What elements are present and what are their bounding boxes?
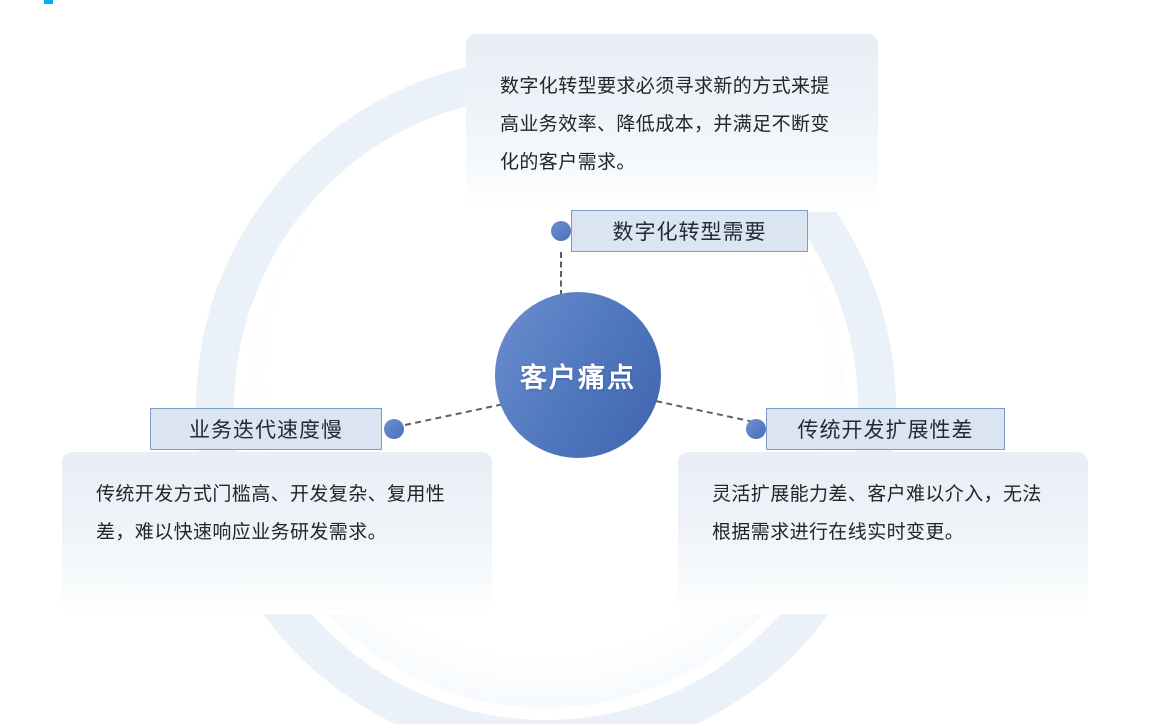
node-chip-right[interactable]: 传统开发扩展性差 [766, 408, 1005, 450]
connector-top [560, 252, 562, 296]
node-chip-top-label: 数字化转型需要 [613, 216, 767, 246]
central-hub-label: 客户痛点 [520, 356, 636, 395]
diagram-canvas: 数字化转型要求必须寻求新的方式来提高业务效率、降低成本，并满足不断变化的客户需求… [0, 0, 1150, 724]
connector-right [646, 398, 764, 425]
node-chip-top[interactable]: 数字化转型需要 [571, 210, 808, 252]
description-text-top: 数字化转型要求必须寻求新的方式来提高业务效率、降低成本，并满足不断变化的客户需求… [500, 68, 844, 182]
node-dot-left-icon[interactable] [384, 419, 404, 439]
node-dot-right-icon[interactable] [746, 419, 766, 439]
node-dot-top-icon[interactable] [551, 221, 571, 241]
node-chip-right-label: 传统开发扩展性差 [798, 414, 974, 444]
description-text-right: 灵活扩展能力差、客户难以介入，无法根据需求进行在线实时变更。 [712, 476, 1054, 552]
description-panel-right: 灵活扩展能力差、客户难以介入，无法根据需求进行在线实时变更。 [678, 452, 1088, 614]
description-text-left: 传统开发方式门槛高、开发复杂、复用性差，难以快速响应业务研发需求。 [96, 476, 458, 552]
node-chip-left[interactable]: 业务迭代速度慢 [150, 408, 382, 450]
description-panel-left: 传统开发方式门槛高、开发复杂、复用性差，难以快速响应业务研发需求。 [62, 452, 492, 614]
node-chip-left-label: 业务迭代速度慢 [189, 414, 343, 444]
central-hub-circle[interactable]: 客户痛点 [495, 292, 661, 458]
corner-marker-icon [44, 0, 53, 4]
description-panel-top: 数字化转型要求必须寻求新的方式来提高业务效率、降低成本，并满足不断变化的客户需求… [466, 34, 878, 212]
